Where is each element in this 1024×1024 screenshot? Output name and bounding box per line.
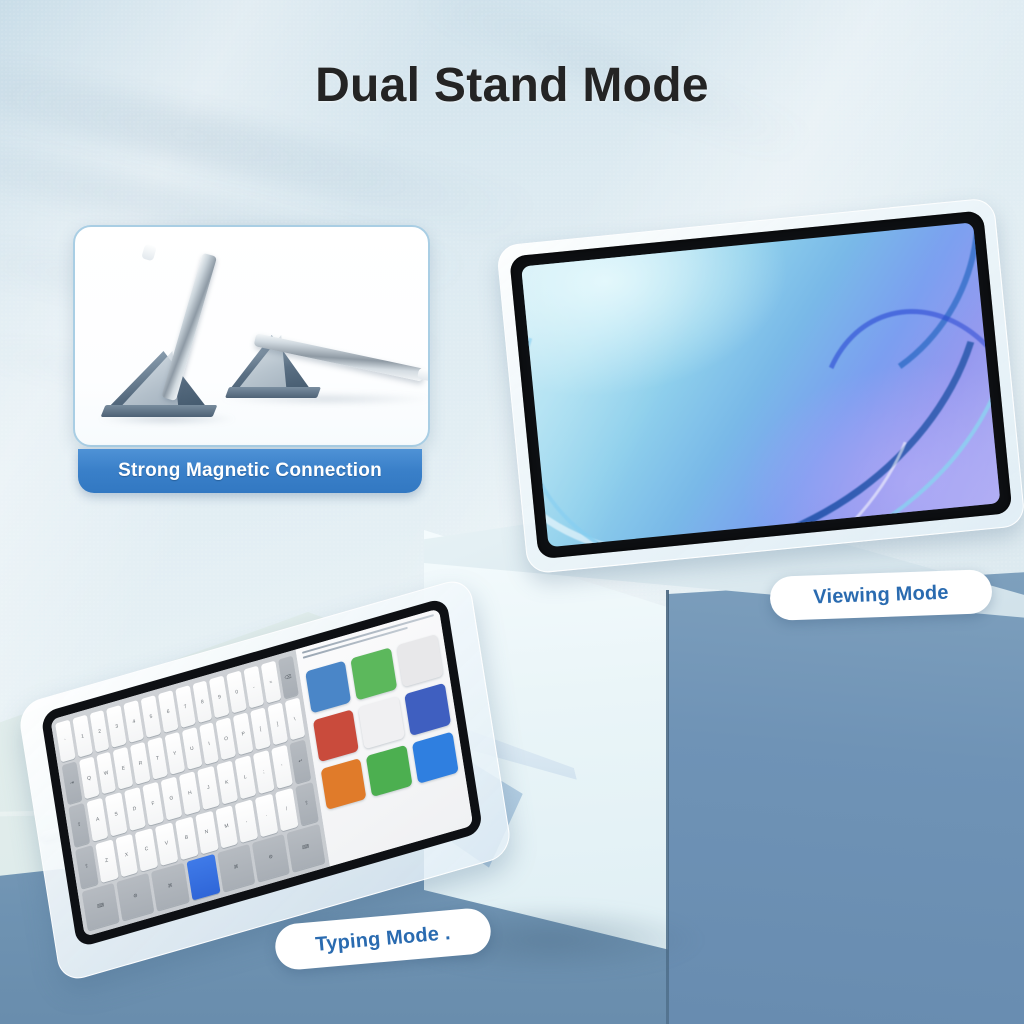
keyboard-key[interactable]: ⇧ (75, 845, 98, 889)
keyboard-key[interactable]: K (216, 761, 238, 804)
tablet-stand-low-angle-illustration (225, 319, 423, 419)
keyboard-key[interactable]: X (115, 833, 138, 877)
keyboard-key[interactable]: B (175, 816, 198, 860)
keyboard-key[interactable]: A (87, 798, 109, 841)
magnetic-connection-banner: Strong Magnetic Connection (78, 449, 422, 493)
app-icon[interactable] (412, 731, 459, 784)
app-icon[interactable] (351, 647, 398, 700)
keyboard-key[interactable]: ⌘ (151, 863, 189, 911)
keyboard-key[interactable]: F (142, 782, 164, 825)
app-icon[interactable] (320, 758, 367, 811)
keyboard-key[interactable]: ⇪ (68, 803, 90, 846)
app-icon[interactable] (312, 709, 359, 762)
app-icon[interactable] (366, 744, 413, 797)
keyboard-key[interactable]: ⚙ (252, 834, 290, 882)
stand-base (101, 405, 218, 417)
keyboard-key[interactable]: ⇧ (295, 782, 318, 826)
keyboard-key[interactable]: ] (267, 703, 287, 746)
app-icon[interactable] (305, 660, 352, 713)
stand-base (225, 387, 321, 398)
keyboard-key[interactable] (186, 854, 220, 901)
keyboard-key[interactable]: G (161, 777, 183, 820)
keyboard-key[interactable]: Q (79, 757, 99, 800)
keyboard-key[interactable]: C (135, 828, 158, 872)
page-title: Dual Stand Mode (0, 58, 1024, 113)
keyboard-key[interactable]: ' (271, 745, 293, 788)
keyboard-key[interactable]: D (124, 787, 146, 830)
keyboard-key[interactable]: 1 (72, 715, 92, 758)
keyboard-key[interactable]: Z (95, 839, 118, 883)
keyboard-key[interactable]: 7 (175, 685, 195, 728)
product-scene: Dual Stand Mode Strong Magnetic Connecti… (0, 0, 1024, 1024)
tablet-bezel (509, 210, 1012, 559)
keyboard-key[interactable]: . (255, 793, 278, 837)
keyboard-key[interactable]: ⚙ (117, 873, 155, 921)
keyboard-key[interactable]: 6 (158, 690, 178, 733)
app-icon[interactable] (358, 696, 405, 749)
magnetic-connection-card (73, 225, 430, 447)
keyboard-key[interactable]: \ (285, 698, 305, 741)
keyboard-key[interactable]: = (261, 661, 281, 704)
keyboard-key[interactable]: / (275, 787, 298, 831)
tablet-screen (521, 222, 1000, 547)
keyboard-key[interactable]: Y (165, 732, 185, 775)
app-icon[interactable] (397, 634, 444, 687)
keyboard-key[interactable]: N (195, 810, 218, 854)
app-icon-grid[interactable] (305, 634, 459, 811)
tablet-viewing-mode (496, 197, 1024, 574)
screen-glare (521, 222, 1000, 547)
tablet-top-tip (141, 244, 157, 262)
keyboard-key[interactable]: S (105, 793, 127, 836)
keyboard-key[interactable]: V (155, 822, 178, 866)
badge-viewing-mode: Viewing Mode (769, 569, 992, 621)
keyboard-key[interactable]: , (235, 799, 258, 843)
keyboard-key[interactable]: ⌫ (278, 656, 298, 699)
keyboard-key[interactable]: ⌨ (287, 824, 325, 872)
keyboard-key[interactable]: J (198, 766, 220, 809)
tablet-side-profile (161, 253, 217, 401)
app-icon[interactable] (404, 683, 451, 736)
keyboard-key[interactable]: M (215, 805, 238, 849)
keyboard-key[interactable]: ; (253, 750, 275, 793)
keyboard-key[interactable]: H (179, 771, 201, 814)
keyboard-key[interactable]: L (234, 756, 256, 799)
keyboard-key[interactable]: ⇥ (62, 762, 82, 805)
keyboard-key[interactable]: ⌘ (217, 844, 255, 892)
pedestal-right-face (668, 572, 1024, 1024)
keyboard-key[interactable]: ⌨ (82, 883, 120, 931)
keyboard-key[interactable]: U (182, 727, 202, 770)
keyboard-key[interactable]: ↵ (290, 740, 312, 783)
keyboard-key[interactable]: ` (55, 720, 75, 763)
